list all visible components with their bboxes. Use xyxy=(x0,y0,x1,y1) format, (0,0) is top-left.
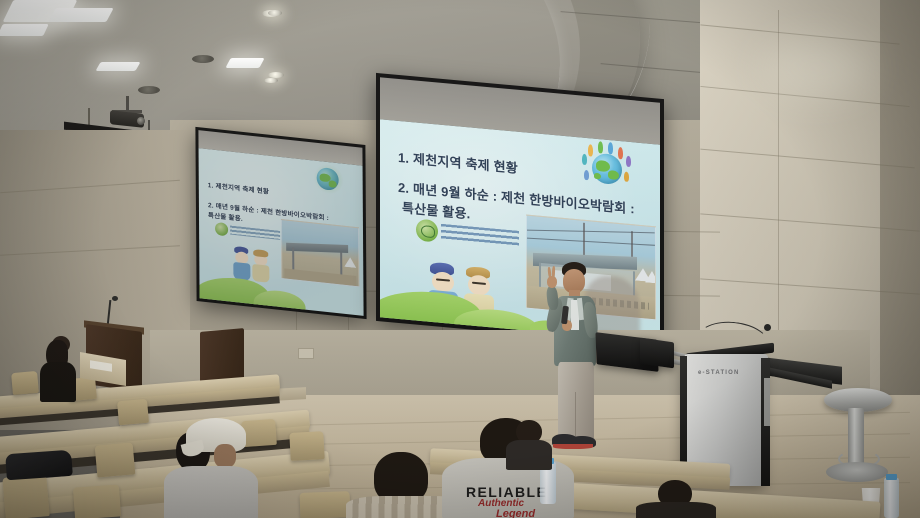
slide2-festival-photo xyxy=(281,219,359,287)
water-bottle-right[interactable] xyxy=(884,478,899,518)
lectern-mic-head xyxy=(112,296,118,301)
person-back-row xyxy=(506,420,552,468)
globe-icon xyxy=(592,153,622,186)
bottle-cap-right xyxy=(886,474,897,480)
projection-screen-secondary-frame: 1. 제천지역 축제 현황 2. 매년 9월 하순 : 제천 한방바이오박람회 … xyxy=(195,127,366,319)
slide-secondary: 1. 제천지역 축제 현황 2. 매년 9월 하순 : 제천 한방바이오박람회 … xyxy=(199,148,364,316)
wall-outlet-plate xyxy=(298,348,314,359)
podium-mic-head xyxy=(764,324,771,331)
globe-figure-7 xyxy=(624,171,629,181)
chair-1[interactable] xyxy=(11,371,39,395)
globe-figure-5 xyxy=(626,156,631,167)
person-white-cap xyxy=(168,418,278,518)
globe-figure-4 xyxy=(618,147,623,159)
far-right-wall xyxy=(880,0,920,420)
confidence-monitor-2 xyxy=(640,338,674,369)
stool-base xyxy=(826,462,888,482)
ceiling-light-strip-5 xyxy=(225,58,264,68)
chair-8[interactable] xyxy=(73,484,121,518)
globe-figure-2 xyxy=(598,141,603,153)
chair-9[interactable] xyxy=(300,491,351,518)
globe-figure-8 xyxy=(584,170,589,180)
globe-figure-3 xyxy=(608,142,613,154)
downlight-5 xyxy=(264,78,278,83)
chair-6[interactable] xyxy=(95,442,136,477)
downlight-4 xyxy=(138,86,160,94)
lecture-hall-photo: 1. 제천지역 축제 현황 2. 매년 9월 하순 : 제천 한방바이오박람회 … xyxy=(0,0,920,518)
seated-left-body xyxy=(40,362,76,402)
person-seated-left xyxy=(36,336,84,400)
ceiling-light-strip-4 xyxy=(95,62,140,71)
black-backpack[interactable] xyxy=(5,450,73,481)
podium-brand-label: e-STATION xyxy=(698,370,740,376)
chair-7[interactable] xyxy=(2,474,49,518)
presenter-forearm-raised xyxy=(546,285,559,310)
globe-figure-6 xyxy=(582,154,587,165)
white-cap-hoodie xyxy=(164,466,258,518)
wall-light-reflection xyxy=(760,38,870,98)
ceiling-light-strip-3 xyxy=(0,24,49,36)
shirt-text-legend: Legend xyxy=(496,508,535,518)
globe-graphic-group xyxy=(572,139,644,196)
slide2-mascot-2-body xyxy=(252,264,269,283)
ceiling-light-strip-2 xyxy=(48,8,113,22)
globe-figure-1 xyxy=(588,144,593,156)
projector-lens xyxy=(137,117,145,125)
projection-screen-main-frame: 1. 제천지역 축제 현황 2. 매년 9월 하순 : 제천 한방바이오박람회 … xyxy=(376,73,664,347)
white-cap-face xyxy=(214,444,236,468)
person-far-right xyxy=(636,480,716,518)
far-right-body xyxy=(636,502,716,518)
chair-3[interactable] xyxy=(117,399,149,426)
back-row-body xyxy=(506,440,552,470)
chair-5[interactable] xyxy=(289,431,324,461)
podium-shelf-arm xyxy=(764,378,770,426)
downlight-3 xyxy=(192,55,214,63)
downlight-6 xyxy=(268,10,282,16)
